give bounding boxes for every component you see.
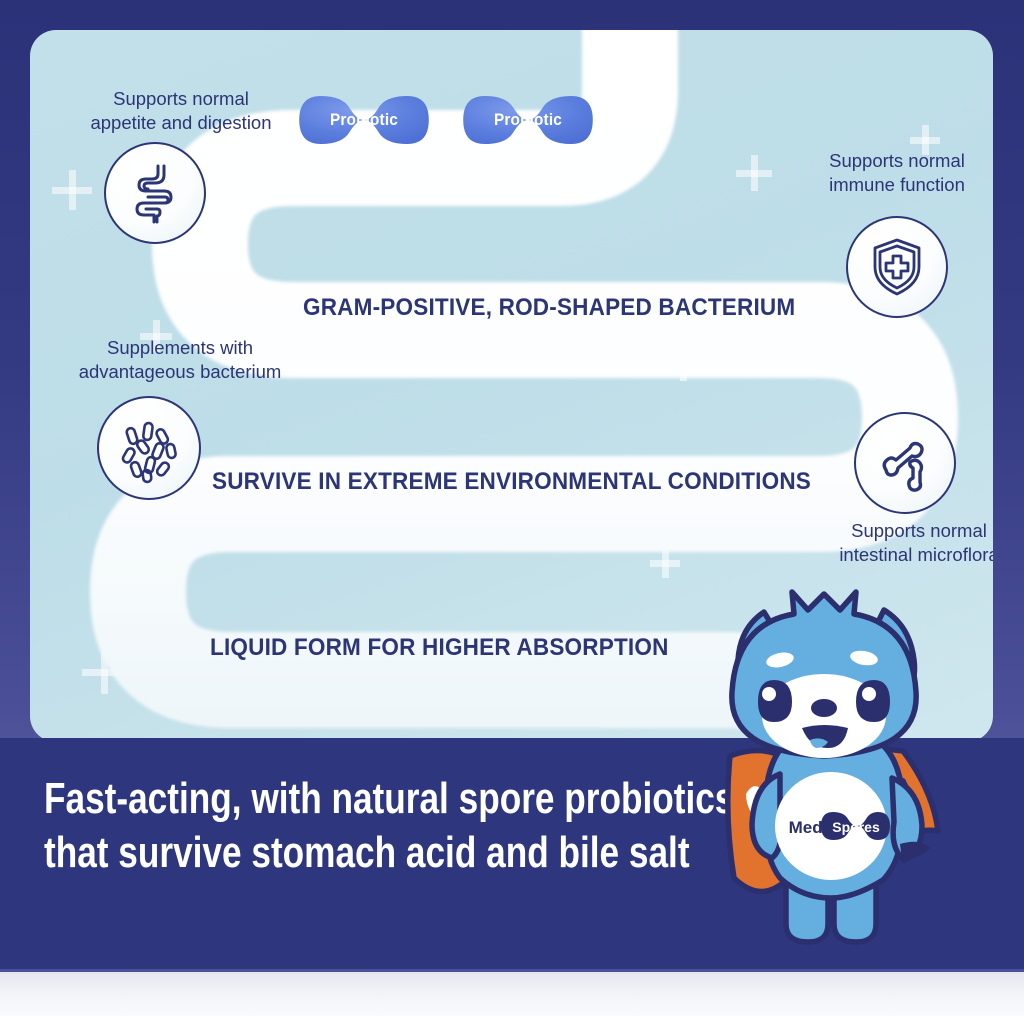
bacteria-cluster-icon-circle (97, 396, 201, 500)
heading-survive-conditions: SURVIVE IN EXTREME ENVIRONMENTAL CONDITI… (212, 468, 811, 496)
caption-advantageous-bacterium: Supplements with advantageous bacterium (30, 336, 330, 383)
caption-line-1: Supports normal (790, 519, 993, 543)
caption-line-1: Supports normal (772, 149, 993, 173)
heading-liquid-form: LIQUID FORM FOR HIGHER ABSORPTION (210, 634, 669, 662)
heading-gram-positive: GRAM-POSITIVE, ROD-SHAPED BACTERIUM (303, 294, 795, 322)
plus-decoration-icon (52, 170, 92, 210)
probiotic-capsule[interactable]: Probiotic (296, 92, 433, 148)
banner-line-2: that survive stomach acid and bile salt (44, 826, 734, 880)
caption-line-1: Supports normal (36, 87, 326, 111)
caption-appetite-digestion: Supports normal appetite and digestion (36, 87, 326, 134)
caption-immune-function: Supports normal immune function (772, 149, 993, 196)
caption-line-2: intestinal microflora (790, 543, 993, 567)
shield-cross-icon-circle (846, 216, 948, 318)
bottom-strip (0, 972, 1024, 1016)
plus-decoration-icon (82, 650, 126, 694)
banner-line-1: Fast-acting, with natural spore probioti… (44, 772, 734, 826)
capsule-label: Probiotic (330, 110, 398, 130)
plus-decoration-icon (760, 508, 794, 542)
plus-decoration-icon (736, 155, 772, 191)
bacteria-rods-icon-circle (854, 412, 956, 514)
caption-line-2: appetite and digestion (36, 111, 326, 135)
caption-intestinal-microflora: Supports normal intestinal microflora (790, 519, 993, 566)
shield-cross-icon (867, 235, 927, 299)
bear-nose (811, 699, 837, 717)
intestine-icon-circle (104, 142, 206, 244)
caption-line-2: advantageous bacterium (30, 360, 330, 384)
caption-line-2: immune function (772, 173, 993, 197)
probiotic-capsule[interactable]: Probiotic (460, 92, 597, 148)
plus-decoration-icon (790, 338, 820, 368)
caption-line-1: Supplements with (30, 336, 330, 360)
bacteria-cluster-icon (113, 412, 185, 484)
plus-decoration-icon (665, 345, 701, 381)
banner-headline: Fast-acting, with natural spore probioti… (44, 772, 734, 879)
plus-decoration-icon (650, 548, 680, 578)
logo-suffix-text: Spores (832, 819, 880, 835)
capsule-label: Probiotic (494, 110, 562, 130)
bacteria-rods-icon (872, 430, 938, 496)
right-paw (900, 842, 930, 860)
medispores-bear-mascot: .bo { stroke:#2b2f6e; stroke-width:5.5; … (668, 576, 968, 956)
intestine-icon (124, 160, 186, 226)
